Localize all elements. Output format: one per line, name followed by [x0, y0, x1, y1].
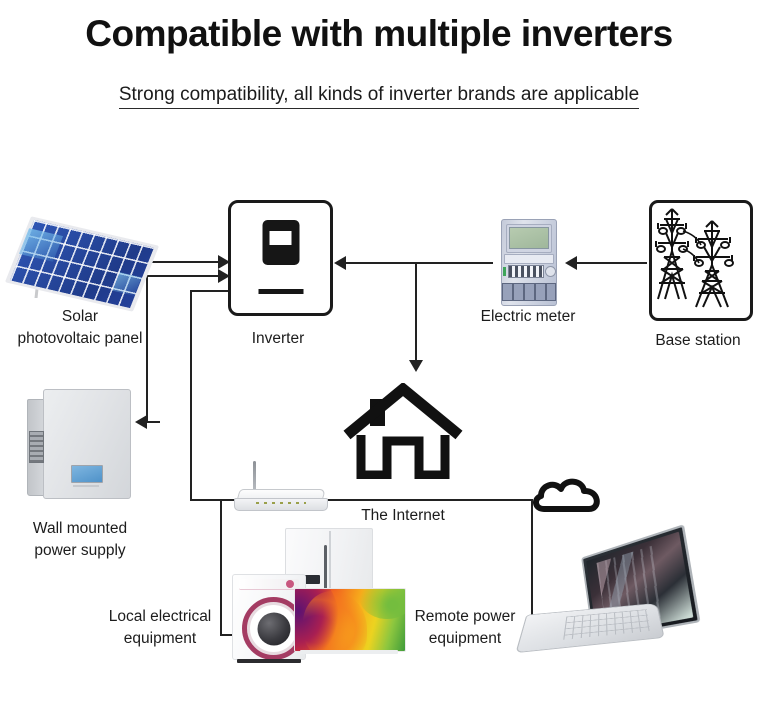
cloud-svg [531, 472, 605, 514]
solar-panel-label: Solar photovoltaic panel [0, 306, 160, 351]
router-leds [256, 502, 306, 504]
page-subtitle-text: Strong compatibility, all kinds of inver… [119, 84, 639, 109]
wall-power-label: Wall mounted power supply [0, 518, 160, 563]
transmission-tower-icon [649, 200, 753, 321]
transmission-tower-svg [652, 203, 744, 312]
inverter-display [262, 220, 299, 265]
line-solar-to-inverter-mid [146, 275, 222, 277]
electric-meter-icon [497, 219, 559, 304]
tv-screen-swirl-2 [303, 591, 367, 652]
wifi-router-icon [234, 461, 328, 509]
internet-label: The Internet [340, 505, 466, 527]
meter-terminal-block [502, 283, 556, 301]
cloud-icon [531, 472, 605, 514]
meter-dial [545, 266, 556, 277]
remote-equipment-label: Remote power equipment [390, 606, 540, 651]
home-appliances-icon [224, 528, 404, 660]
page-subtitle: Strong compatibility, all kinds of inver… [0, 84, 758, 107]
inverter-label: Inverter [218, 328, 338, 350]
meter-register [508, 265, 544, 278]
meter-led [503, 267, 506, 276]
page-title: Compatible with multiple inverters [0, 14, 758, 55]
solar-panel-icon [8, 222, 153, 310]
router-base [234, 498, 328, 511]
wall-unit-label-strip [73, 485, 99, 487]
inverter-display-window [270, 231, 292, 245]
laptop-keys [563, 609, 650, 639]
line-base-to-meter [576, 262, 647, 264]
diagram-page: Compatible with multiple inverters Stron… [0, 0, 758, 715]
line-to-internet-vertical [415, 262, 417, 362]
inverter-icon [228, 200, 333, 316]
wall-unit-display [71, 465, 103, 483]
battery-cabinet-icon [27, 389, 132, 499]
arrow-base-to-meter [565, 256, 577, 270]
arrow-to-internet [409, 360, 423, 372]
washer-knob [286, 580, 294, 588]
tv-base-shelf [300, 650, 398, 654]
line-meter-to-inverter [345, 262, 493, 264]
electric-meter-label: Electric meter [458, 306, 598, 328]
washer-door-glass [257, 612, 290, 645]
line-solar-to-inverter-top [148, 261, 222, 263]
arrow-to-wall-power [135, 415, 147, 429]
local-equipment-label: Local electrical equipment [85, 606, 235, 651]
washer-feet [237, 659, 301, 663]
line-inverter-to-wall-horizontal [146, 421, 160, 423]
line-inverter-left-stub [190, 290, 230, 292]
inverter-bar [258, 289, 303, 294]
wall-unit-vent [29, 431, 44, 463]
meter-nameplate [504, 254, 554, 264]
line-inverter-to-bus-vertical [190, 290, 192, 500]
house-svg [341, 383, 465, 479]
house-icon [341, 383, 465, 479]
laptop-icon [531, 555, 691, 653]
base-station-label: Base station [639, 330, 757, 352]
meter-lcd-screen [509, 227, 549, 249]
arrow-meter-to-inverter [334, 256, 346, 270]
